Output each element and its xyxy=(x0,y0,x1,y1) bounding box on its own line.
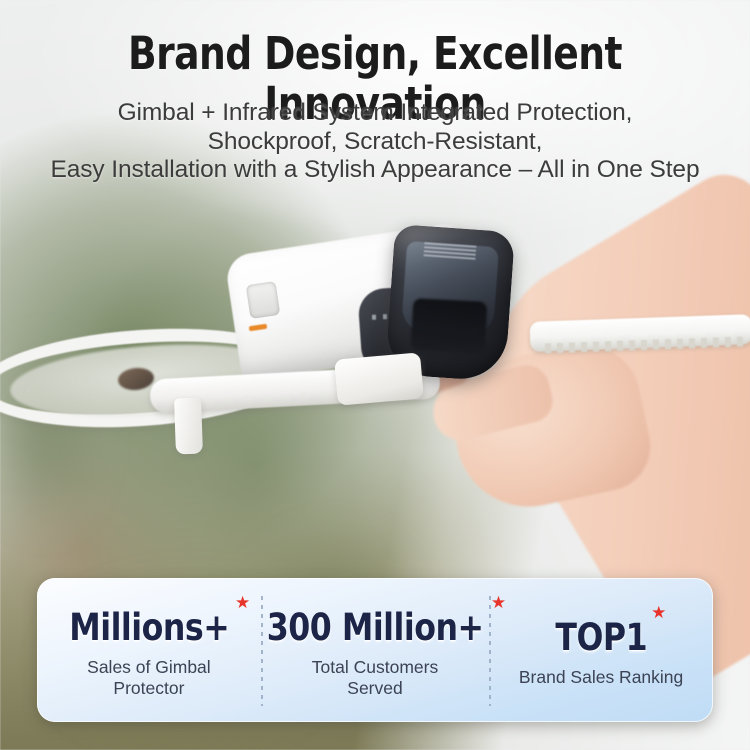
stat-value: Millions+ xyxy=(69,608,229,648)
subtitle-line-1: Gimbal + Infrared System Integrated Prot… xyxy=(0,99,750,128)
subtitle-line-2: Shockproof, Scratch-Resistant, xyxy=(0,128,750,157)
drone-body-slot xyxy=(246,281,281,319)
stat-item-sales: Millions+ ★ Sales of Gimbal Protector xyxy=(37,578,261,722)
stat-label: Brand Sales Ranking xyxy=(519,667,683,688)
stat-value: TOP1 xyxy=(555,618,647,658)
asterisk-icon: ★ xyxy=(235,594,250,611)
stat-value-wrap: TOP1 ★ xyxy=(553,618,650,658)
stats-panel: Millions+ ★ Sales of Gimbal Protector 30… xyxy=(37,578,713,722)
stat-item-ranking: TOP1 ★ Brand Sales Ranking xyxy=(489,578,713,722)
stat-value: 300 Million+ xyxy=(267,608,484,648)
gimbal-protector-shadow xyxy=(411,298,488,354)
stat-item-customers: 300 Million+ ★ Total Customers Served xyxy=(261,578,489,722)
stat-label: Sales of Gimbal Protector xyxy=(87,657,211,699)
gimbal-mount-clip xyxy=(334,352,424,405)
page-subtitle: Gimbal + Infrared System Integrated Prot… xyxy=(0,99,750,185)
subtitle-line-3: Easy Installation with a Stylish Appeara… xyxy=(0,156,750,185)
stat-value-wrap: Millions+ ★ xyxy=(65,608,234,648)
stat-label: Total Customers Served xyxy=(312,657,438,699)
asterisk-icon: ★ xyxy=(651,604,666,621)
drone-landing-leg xyxy=(174,398,203,455)
stat-value-wrap: 300 Million+ ★ xyxy=(261,608,489,648)
